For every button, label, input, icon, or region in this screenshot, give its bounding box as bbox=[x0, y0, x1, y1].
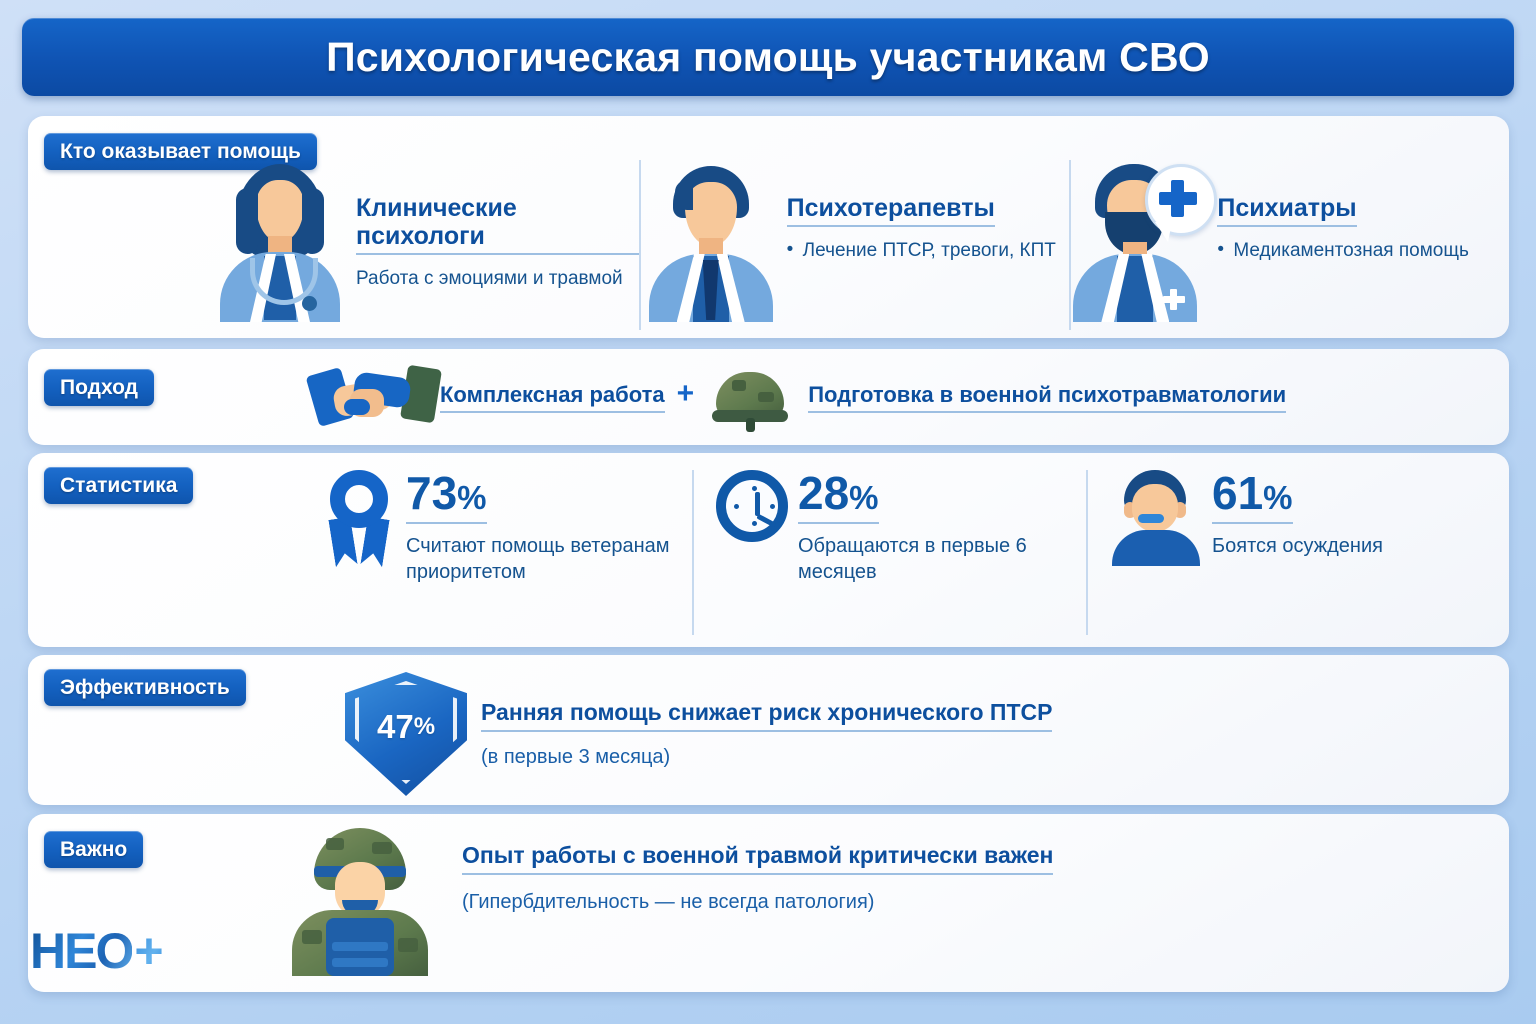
important-row: Опыт работы с военной травмой критически… bbox=[280, 826, 1053, 976]
award-ribbon-icon bbox=[322, 470, 396, 574]
stat-value: 28% bbox=[798, 470, 879, 524]
specialist-text: Клинические психологи Работа с эмоциями … bbox=[356, 160, 639, 291]
military-helmet-icon bbox=[706, 366, 798, 428]
female-clinical-psychologist-icon bbox=[210, 160, 350, 320]
stat-label: Считают помощь ветеранам приоритетом bbox=[406, 533, 692, 585]
shield-value: 47% bbox=[345, 672, 467, 796]
handshake-icon bbox=[310, 365, 440, 429]
person-bust-icon bbox=[1110, 470, 1202, 564]
effectiveness-main-text: Ранняя помощь снижает риск хронического … bbox=[481, 699, 1052, 732]
shield-icon: 47% bbox=[345, 672, 467, 796]
specialist-bullet: Лечение ПТСР, тревоги, КПТ bbox=[787, 238, 1056, 263]
statistics-row: 73% Считают помощь ветеранам приоритетом… bbox=[300, 470, 1480, 635]
specialist-clinical-psychologist: Клинические психологи Работа с эмоциями … bbox=[210, 160, 639, 330]
section-badge-stats: Статистика bbox=[44, 467, 193, 504]
important-main-text: Опыт работы с военной травмой критически… bbox=[462, 842, 1053, 875]
section-badge-important: Важно bbox=[44, 831, 143, 868]
effectiveness-sub-text: (в первые 3 месяца) bbox=[481, 746, 1052, 769]
approach-plus-connector: + bbox=[677, 377, 695, 417]
effectiveness-row: 47% Ранняя помощь снижает риск хроническ… bbox=[345, 672, 1052, 796]
stat-item-fear-of-judgement: 61% Боятся осуждения bbox=[1086, 470, 1480, 635]
specialist-bullets: Медикаментозная помощь bbox=[1217, 238, 1469, 263]
bearded-psychiatrist-icon bbox=[1071, 160, 1211, 320]
specialist-bullets: Лечение ПТСР, тревоги, КПТ bbox=[787, 238, 1056, 263]
medical-cross-icon bbox=[1171, 180, 1184, 217]
stat-value: 73% bbox=[406, 470, 487, 524]
speech-bubble-tail bbox=[1155, 222, 1172, 242]
infographic-page: Психологическая помощь участникам СВО Кт… bbox=[0, 0, 1536, 1024]
specialist-bullet: Медикаментозная помощь bbox=[1217, 238, 1469, 263]
page-title: Психологическая помощь участникам СВО bbox=[326, 34, 1210, 81]
specialist-title: Психотерапевты bbox=[787, 194, 995, 227]
section-badge-effectiveness: Эффективность bbox=[44, 669, 246, 706]
section-badge-approach: Подход bbox=[44, 369, 154, 406]
soldier-icon bbox=[280, 826, 440, 976]
clock-icon bbox=[716, 470, 788, 542]
stat-body: 73% Считают помощь ветеранам приоритетом bbox=[406, 470, 692, 585]
approach-row: Комплексная работа + Подготовка в военно… bbox=[310, 360, 1286, 434]
brand-logo: НЕО + bbox=[30, 922, 162, 980]
specialist-bullet: Работа с эмоциями и травмой bbox=[356, 266, 639, 291]
specialist-text: Психиатры Медикаментозная помощь bbox=[1217, 160, 1469, 263]
important-sub-text: (Гипербдительность — не всегда патология… bbox=[462, 891, 1053, 914]
logo-word: НЕО bbox=[30, 922, 132, 980]
specialist-text: Психотерапевты Лечение ПТСР, тревоги, КП… bbox=[787, 160, 1056, 263]
important-body: Опыт работы с военной травмой критически… bbox=[462, 826, 1053, 914]
effectiveness-body: Ранняя помощь снижает риск хронического … bbox=[481, 699, 1052, 769]
specialist-psychiatrist: Психиатры Медикаментозная помощь bbox=[1069, 160, 1500, 330]
coat-cross-icon bbox=[1170, 289, 1177, 310]
logo-plus-icon: + bbox=[134, 922, 161, 980]
stat-body: 28% Обращаются в первые 6 месяцев bbox=[798, 470, 1086, 585]
specialist-bullets: Работа с эмоциями и травмой bbox=[356, 266, 639, 291]
stat-label: Обращаются в первые 6 месяцев bbox=[798, 533, 1086, 585]
stat-body: 61% Боятся осуждения bbox=[1212, 470, 1383, 559]
approach-right-text: Подготовка в военной психотравматологии bbox=[808, 382, 1286, 413]
stat-item-priority: 73% Считают помощь ветеранам приоритетом bbox=[300, 470, 692, 635]
specialist-title: Клинические психологи bbox=[356, 194, 639, 255]
male-psychotherapist-icon bbox=[641, 160, 781, 320]
specialists-row: Клинические психологи Работа с эмоциями … bbox=[210, 160, 1500, 330]
specialist-title: Психиатры bbox=[1217, 194, 1356, 227]
page-title-bar: Психологическая помощь участникам СВО bbox=[22, 18, 1514, 96]
stat-value: 61% bbox=[1212, 470, 1293, 524]
stat-label: Боятся осуждения bbox=[1212, 533, 1383, 559]
approach-left-text: Комплексная работа bbox=[440, 382, 665, 413]
specialist-psychotherapist: Психотерапевты Лечение ПТСР, тревоги, КП… bbox=[639, 160, 1070, 330]
stat-item-first-six-months: 28% Обращаются в первые 6 месяцев bbox=[692, 470, 1086, 635]
